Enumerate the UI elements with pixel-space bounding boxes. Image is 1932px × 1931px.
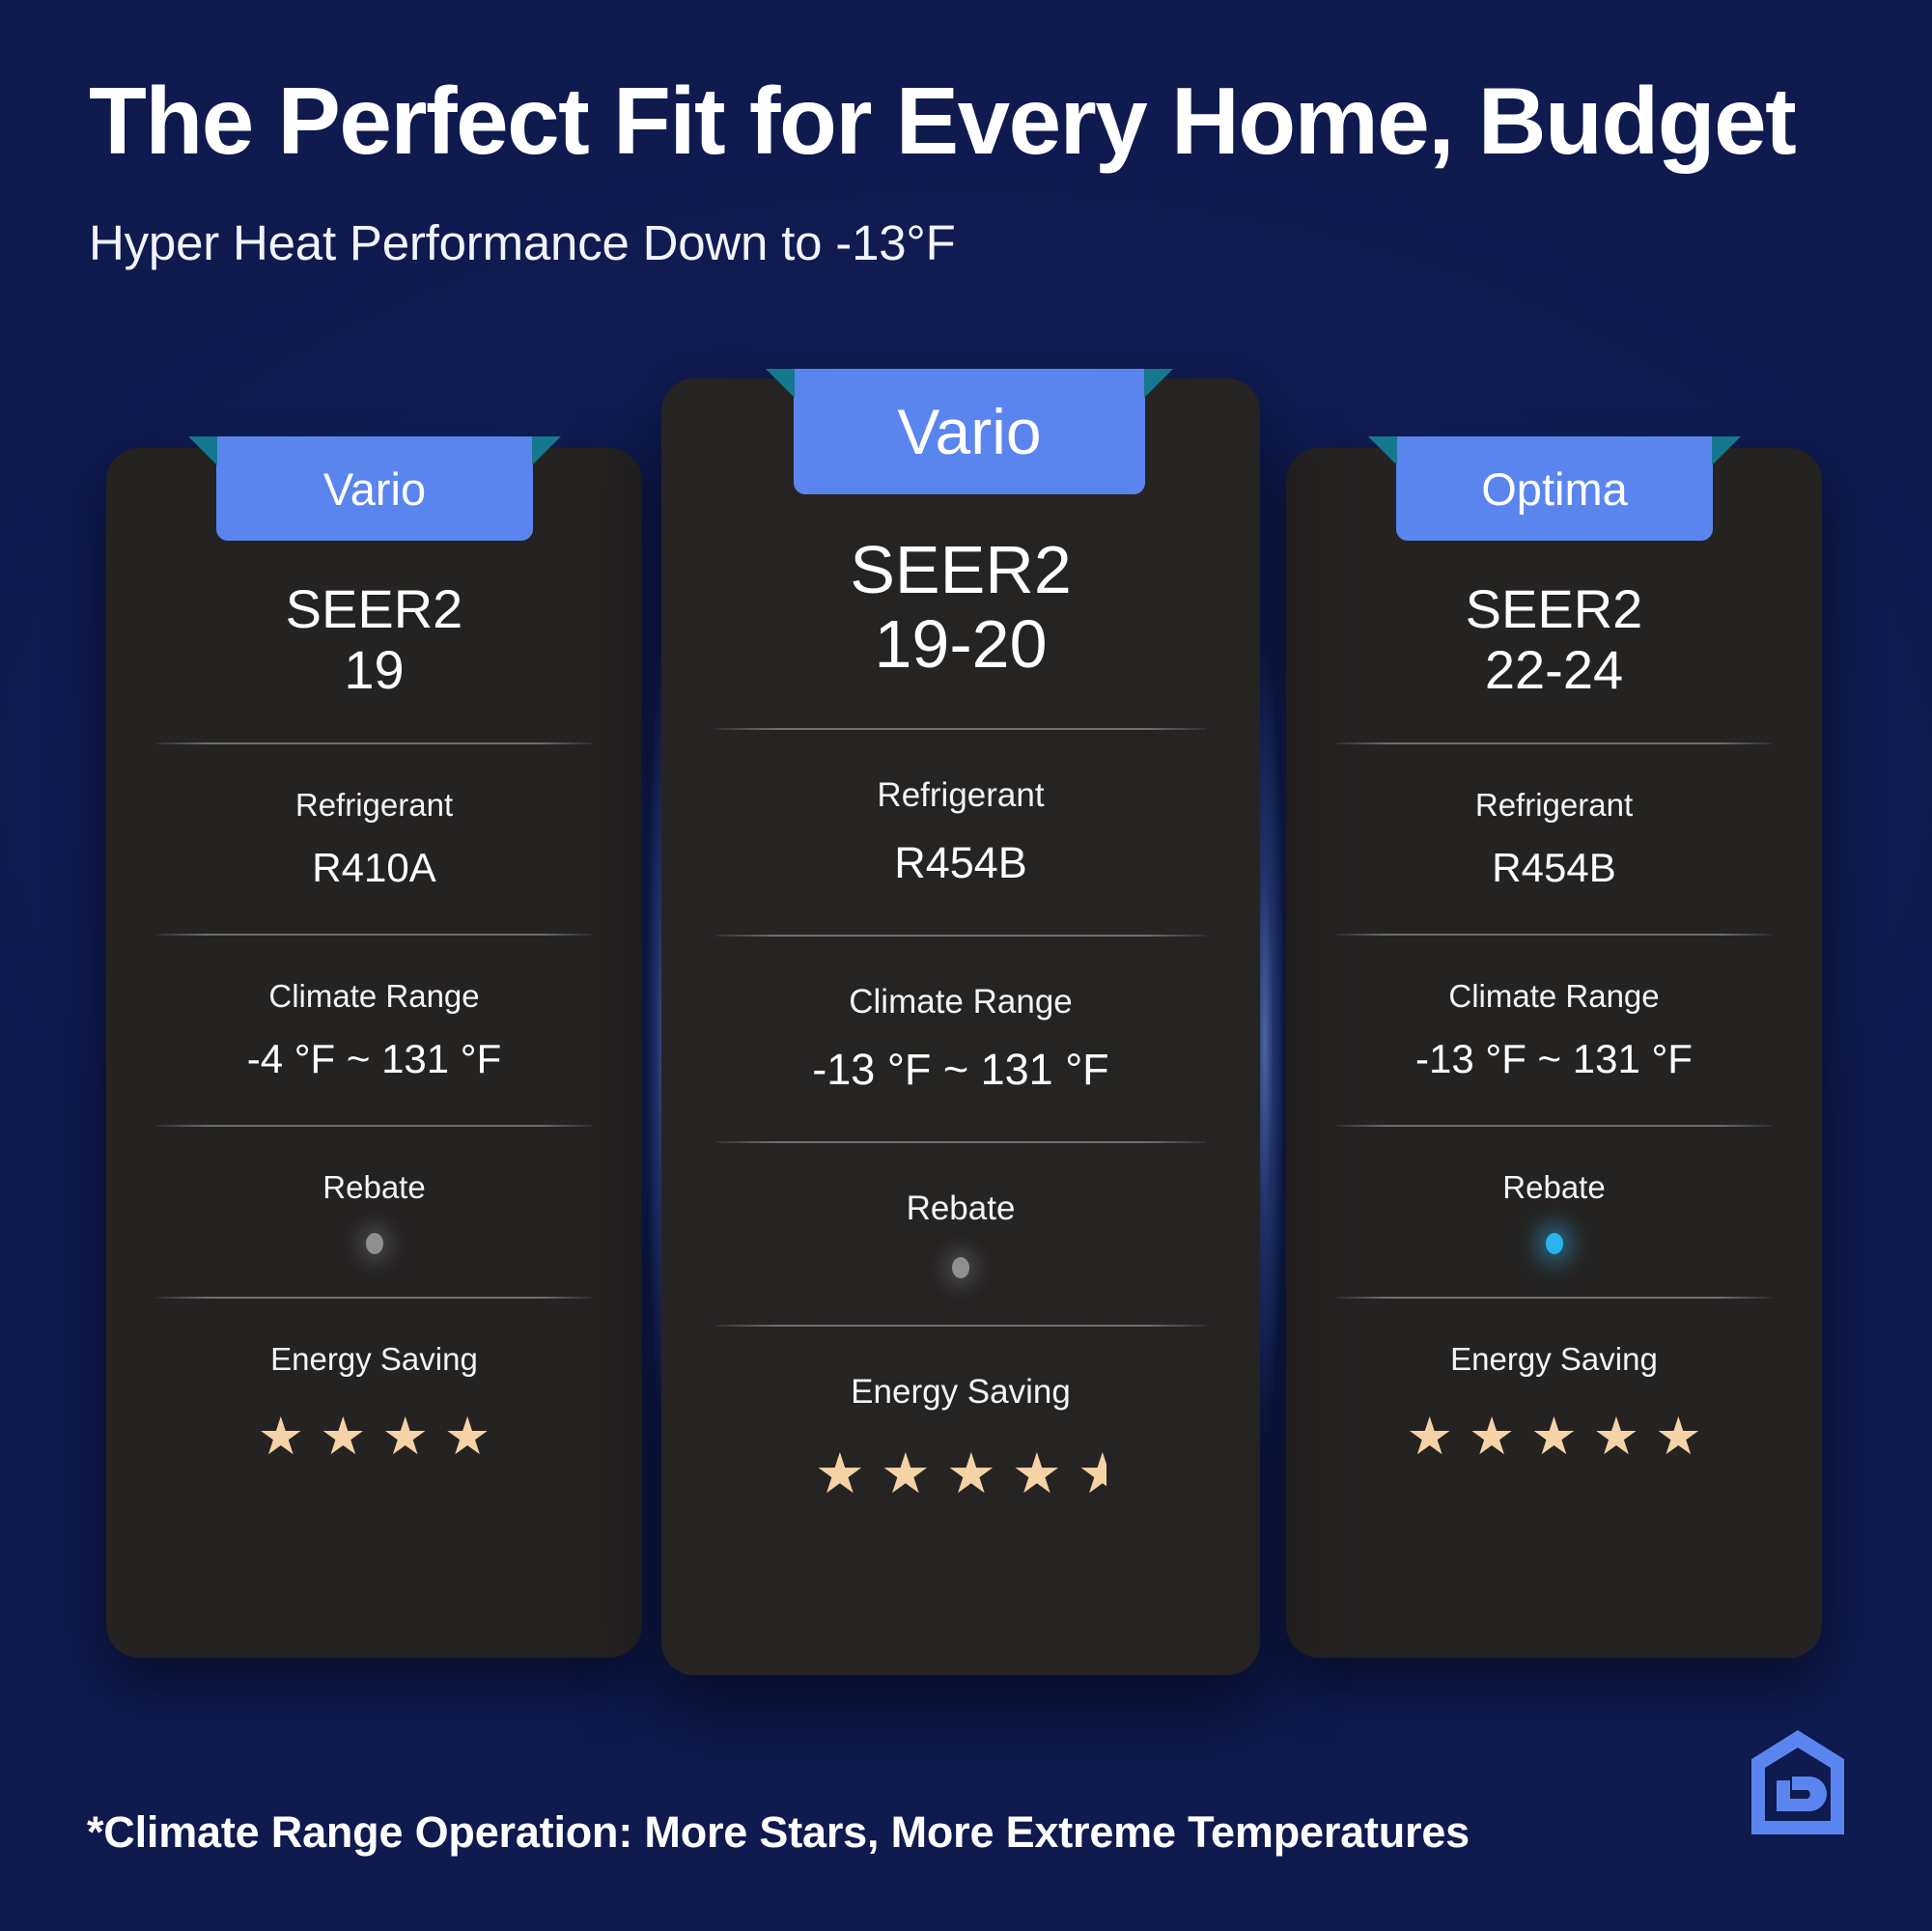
comparison-cards: SEER2 19 Refrigerant R410A Climate Range… <box>0 0 1932 1931</box>
divider <box>156 742 592 744</box>
seer-label: SEER2 <box>286 579 463 640</box>
energy-saving-label: Energy Saving <box>1450 1341 1658 1378</box>
energy-saving-rating: ★★★★ <box>156 1411 592 1463</box>
climate-range-label: Climate Range <box>849 983 1073 1021</box>
seer-block: SEER2 22-24 <box>1466 579 1643 700</box>
energy-saving-label: Energy Saving <box>270 1341 478 1378</box>
rebate-label: Rebate <box>907 1189 1016 1228</box>
divider <box>1336 1125 1772 1127</box>
divider <box>715 935 1206 937</box>
rebate-dot-icon <box>952 1257 969 1278</box>
divider <box>1336 1297 1772 1299</box>
star-icon: ★ <box>881 1446 931 1502</box>
climate-range-label: Climate Range <box>268 978 479 1015</box>
climate-range-value: -4 °F ~ 131 °F <box>247 1036 502 1082</box>
star-icon: ★ <box>1530 1411 1577 1463</box>
divider <box>156 934 592 936</box>
divider <box>1336 742 1772 744</box>
divider <box>156 1297 592 1299</box>
star-icon: ★ <box>1406 1411 1452 1463</box>
seer-value: 22-24 <box>1466 640 1643 701</box>
divider <box>715 1141 1206 1143</box>
product-ribbon-right[interactable]: Optima <box>1396 436 1713 541</box>
refrigerant-label: Refrigerant <box>877 776 1044 815</box>
star-icon: ★ <box>1593 1411 1639 1463</box>
rebate-indicator <box>156 1233 592 1254</box>
star-icon: ★ <box>1655 1411 1701 1463</box>
refrigerant-label: Refrigerant <box>1475 787 1633 824</box>
seer-label: SEER2 <box>1466 579 1643 640</box>
seer-block: SEER2 19-20 <box>850 533 1072 682</box>
refrigerant-value: R454B <box>894 838 1027 888</box>
footnote: *Climate Range Operation: More Stars, Mo… <box>87 1807 1470 1858</box>
star-icon: ★ <box>382 1411 429 1463</box>
refrigerant-label: Refrigerant <box>295 787 453 824</box>
rebate-dot-icon <box>366 1233 383 1254</box>
seer-value: 19-20 <box>850 607 1072 682</box>
half-star-icon: ★ <box>1078 1446 1106 1502</box>
card-body: SEER2 22-24 Refrigerant R454B Climate Ra… <box>1286 552 1822 1463</box>
star-icon: ★ <box>1012 1446 1062 1502</box>
ribbon-label: Optima <box>1481 462 1628 516</box>
house-spiral-logo-icon <box>1748 1726 1848 1838</box>
climate-range-value: -13 °F ~ 131 °F <box>812 1045 1108 1095</box>
refrigerant-value: R410A <box>312 845 435 891</box>
card-body: SEER2 19-20 Refrigerant R454B Climate Ra… <box>661 504 1260 1502</box>
divider <box>1336 934 1772 936</box>
product-card-center-featured[interactable]: SEER2 19-20 Refrigerant R454B Climate Ra… <box>661 378 1260 1675</box>
seer-label: SEER2 <box>850 533 1072 607</box>
seer-value: 19 <box>286 640 463 701</box>
star-icon: ★ <box>1469 1411 1515 1463</box>
star-icon: ★ <box>444 1411 490 1463</box>
rebate-label: Rebate <box>322 1169 425 1206</box>
divider <box>715 1325 1206 1327</box>
ribbon-label: Vario <box>897 395 1041 468</box>
product-card-right[interactable]: SEER2 22-24 Refrigerant R454B Climate Ra… <box>1286 448 1822 1658</box>
product-card-left[interactable]: SEER2 19 Refrigerant R410A Climate Range… <box>106 448 642 1658</box>
energy-saving-label: Energy Saving <box>851 1373 1071 1412</box>
rebate-indicator <box>715 1257 1206 1278</box>
rebate-indicator <box>1336 1233 1772 1254</box>
ribbon-label: Vario <box>323 462 426 516</box>
product-ribbon-left[interactable]: Vario <box>216 436 533 541</box>
card-body: SEER2 19 Refrigerant R410A Climate Range… <box>106 552 642 1463</box>
star-icon: ★ <box>258 1411 304 1463</box>
divider <box>715 728 1206 730</box>
product-ribbon-center[interactable]: Vario <box>794 369 1145 494</box>
refrigerant-value: R454B <box>1492 845 1615 891</box>
star-icon: ★ <box>320 1411 366 1463</box>
rebate-label: Rebate <box>1502 1169 1605 1206</box>
seer-block: SEER2 19 <box>286 579 463 700</box>
star-icon: ★ <box>946 1446 996 1502</box>
star-icon: ★ <box>815 1446 865 1502</box>
climate-range-value: -13 °F ~ 131 °F <box>1415 1036 1693 1082</box>
energy-saving-rating: ★★★★★ <box>1336 1411 1772 1463</box>
divider <box>156 1125 592 1127</box>
energy-saving-rating: ★★★★★ <box>715 1446 1206 1502</box>
rebate-dot-icon <box>1546 1233 1563 1254</box>
climate-range-label: Climate Range <box>1448 978 1659 1015</box>
